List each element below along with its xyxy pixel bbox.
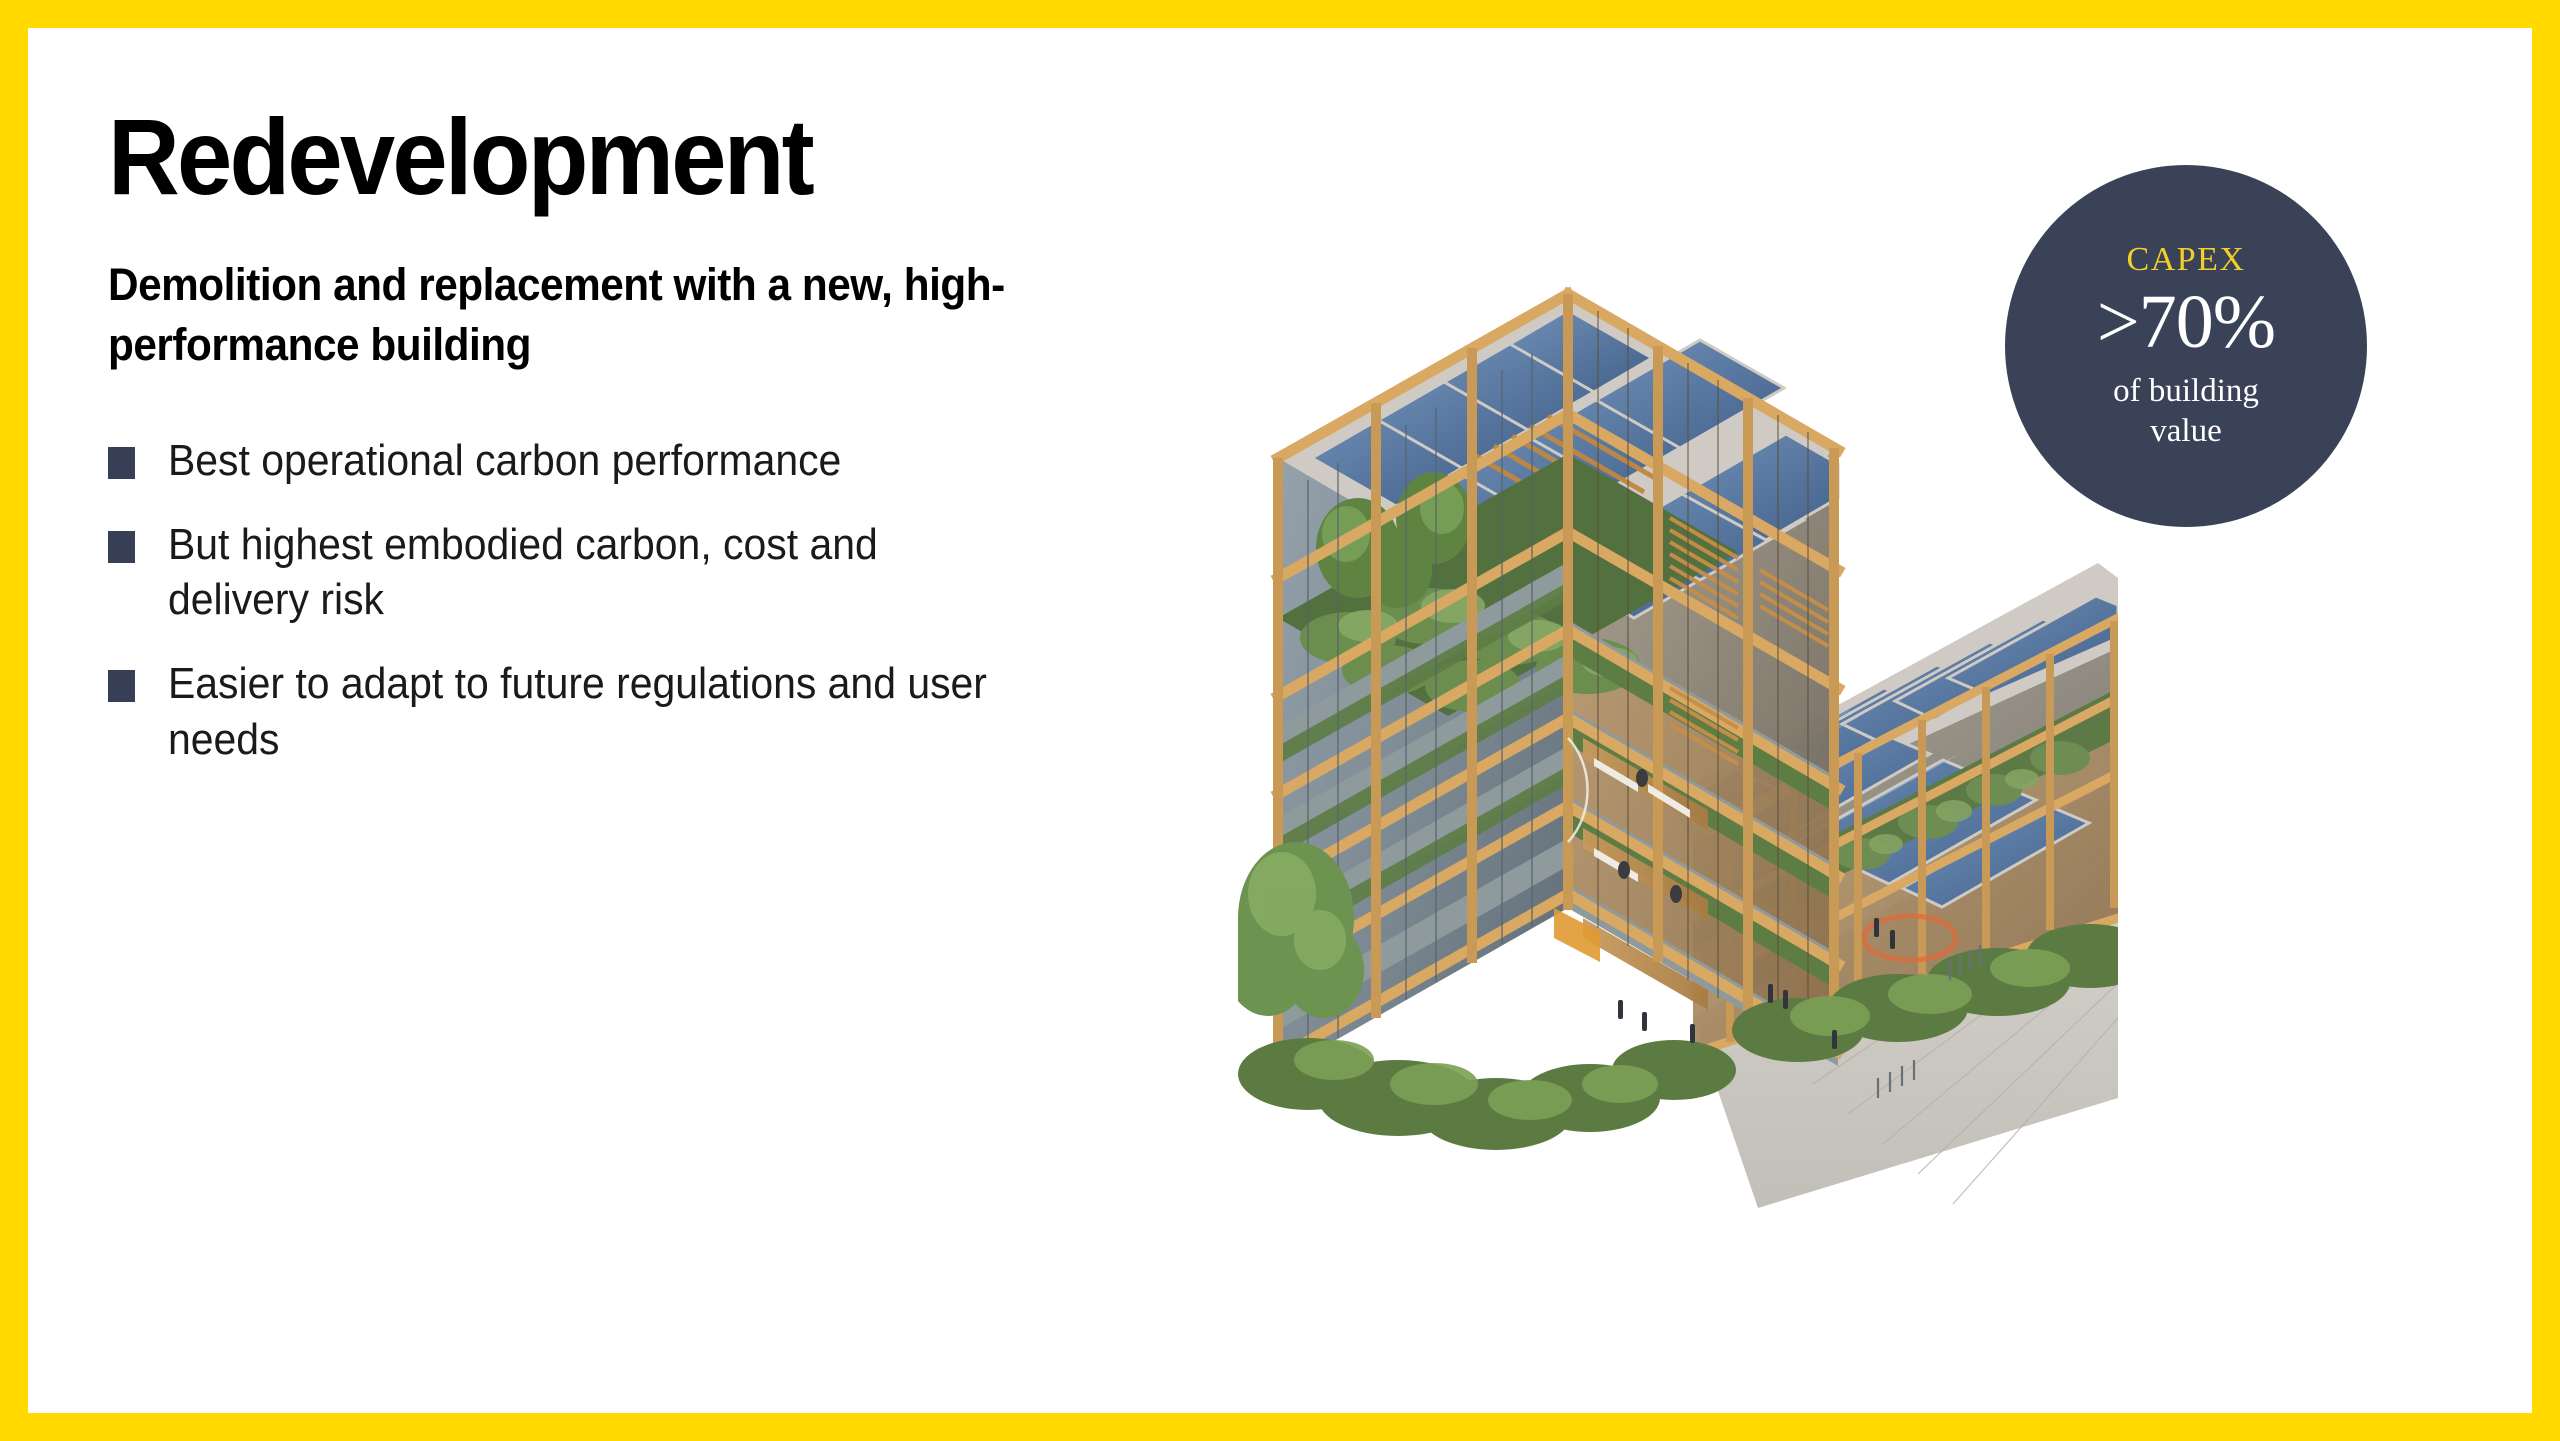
text-column: Redevelopment Demolition and replacement… <box>108 103 1098 796</box>
list-item-label: Best operational carbon performance <box>168 433 841 489</box>
capex-badge-caption: of building value <box>2086 372 2286 451</box>
capex-badge-value: >70% <box>2097 283 2275 363</box>
capex-badge-label: CAPEX <box>2127 241 2246 279</box>
list-item-label: Easier to adapt to future regulations an… <box>168 656 1005 768</box>
capex-badge: CAPEX >70% of building value <box>2005 165 2367 527</box>
slide-canvas: Redevelopment Demolition and replacement… <box>28 28 2532 1413</box>
square-bullet-icon <box>108 447 135 479</box>
bullet-list: Best operational carbon performance But … <box>108 433 1098 768</box>
page-title: Redevelopment <box>108 103 1019 211</box>
list-item-label: But highest embodied carbon, cost and de… <box>168 517 1005 629</box>
building-render-image <box>1238 218 2118 1208</box>
list-item: But highest embodied carbon, cost and de… <box>108 517 1098 629</box>
square-bullet-icon <box>108 670 135 702</box>
list-item: Best operational carbon performance <box>108 433 1098 489</box>
slide-frame: Redevelopment Demolition and replacement… <box>0 0 2560 1441</box>
square-bullet-icon <box>108 531 135 563</box>
page-subtitle: Demolition and replacement with a new, h… <box>108 255 1010 375</box>
list-item: Easier to adapt to future regulations an… <box>108 656 1098 768</box>
